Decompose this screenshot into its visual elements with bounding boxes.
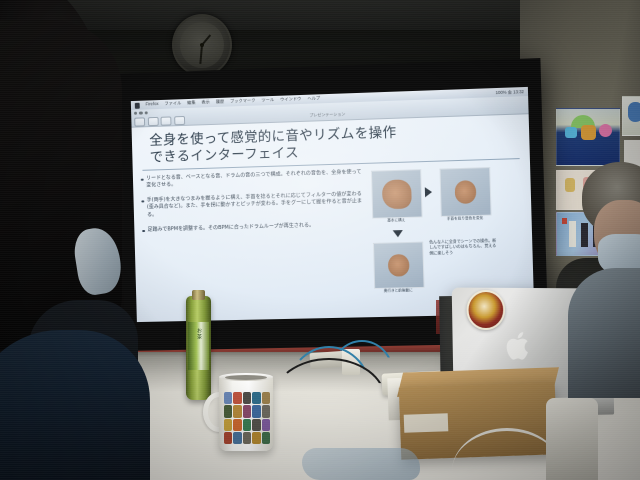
bottle-label-text: お茶 bbox=[196, 328, 203, 340]
mug-icon-shape bbox=[233, 419, 241, 431]
menu-item-tools[interactable]: ツール bbox=[261, 98, 274, 103]
mug-icon-shape bbox=[233, 432, 241, 444]
mug-icon-shape bbox=[243, 405, 251, 417]
bullet-dot-icon bbox=[141, 178, 144, 181]
mug-icon-shape bbox=[252, 432, 260, 444]
slide-columns: リードとなる音、ベースとなる音、ドラムの音の三つで構成。それぞれの音色を、全身を… bbox=[141, 164, 524, 242]
poster-shape-pink bbox=[599, 124, 612, 137]
window-controls[interactable] bbox=[134, 111, 148, 115]
menubar-app-name[interactable]: Firefox bbox=[145, 102, 158, 107]
mug-icon-shape bbox=[262, 392, 270, 404]
mug-interior bbox=[225, 375, 267, 380]
mug-icon-shape bbox=[262, 405, 270, 417]
white-chair bbox=[546, 398, 598, 480]
room-scene: Firefox ファイル 編集 表示 履歴 ブックマーク ツール ウインドウ ヘ… bbox=[0, 0, 640, 480]
reload-icon[interactable] bbox=[174, 116, 185, 125]
minimize-icon[interactable] bbox=[139, 112, 142, 115]
poster-flag bbox=[562, 218, 567, 224]
mug-icon-shape bbox=[262, 419, 270, 431]
person-left-shoulder bbox=[0, 330, 150, 480]
mug-icon-shape bbox=[233, 405, 241, 417]
back-icon[interactable] bbox=[147, 117, 158, 126]
mug-icon-shape bbox=[262, 432, 270, 444]
hand-twisted-shape bbox=[454, 181, 476, 205]
close-icon[interactable] bbox=[134, 112, 137, 115]
slide-figure-column: 基本に構え 手首を捻り音色を変化 bbox=[369, 164, 524, 236]
slide-bullet: 手(両手)を大きなつまみを握るように構え、手首を捻るとそれに応じてフィルターの値… bbox=[141, 191, 366, 220]
slide-bullet-column: リードとなる音、ベースとなる音、ドラムの音の三つで構成。それぞれの音色を、全身を… bbox=[141, 168, 367, 241]
clock-face bbox=[180, 22, 224, 68]
bottle-cap bbox=[192, 290, 205, 300]
mug-icon-shape bbox=[224, 405, 232, 417]
mug-icon-shape bbox=[233, 392, 241, 404]
bullet-dot-icon bbox=[141, 200, 144, 203]
poster-figure-shape bbox=[628, 102, 640, 122]
menu-item-bookmarks[interactable]: ブックマーク bbox=[230, 99, 256, 104]
poster-shape-orange bbox=[581, 125, 596, 140]
toolbar-buttons[interactable] bbox=[134, 116, 184, 127]
arrow-down-icon bbox=[392, 230, 402, 237]
clock-minute-hand bbox=[199, 45, 203, 64]
menu-item-edit[interactable]: 編集 bbox=[187, 101, 196, 105]
mug-icon-shape bbox=[224, 419, 232, 431]
bullet-text: 手(両手)を大きなつまみを握るように構え、手首を捻るとそれに応じてフィルターの値… bbox=[147, 191, 366, 220]
figure-caption-2: 手首を捻り音色を変化 bbox=[441, 215, 490, 221]
mug-icon-shape bbox=[252, 405, 260, 417]
mug-icon-shape bbox=[243, 419, 251, 431]
person-right bbox=[572, 162, 640, 392]
figure-note-text: 色んな人に全身でシーンでの操作。新しんですばしいのはもちろん、覚える側に楽しそう bbox=[429, 237, 497, 256]
menu-item-file[interactable]: ファイル bbox=[164, 102, 181, 107]
slide-title: 全身を使って感覚的に音やリズムを操作 できるインターフェイス bbox=[139, 121, 521, 168]
slide-bullet: リードとなる音、ベースとなる音、ドラムの音の三つで構成。それぞれの音色を、全身を… bbox=[141, 168, 365, 190]
hand-open-shape bbox=[382, 180, 412, 209]
slide-bullet: 足踏みでBPMを調整する。そのBPMに合ったドラムループが再生される。 bbox=[142, 221, 366, 235]
laptop-sticker bbox=[467, 290, 505, 330]
clock-center-pin bbox=[200, 43, 204, 47]
zoom-icon[interactable] bbox=[145, 111, 148, 114]
menu-item-window[interactable]: ウインドウ bbox=[280, 97, 301, 102]
mug-icon-shape bbox=[243, 392, 251, 404]
wall-clock bbox=[172, 14, 232, 76]
figure-hand-twisted bbox=[439, 167, 491, 217]
bullet-text: 足踏みでBPMを調整する。そのBPMに合ったドラムループが再生される。 bbox=[147, 222, 314, 234]
menu-item-history[interactable]: 履歴 bbox=[216, 100, 225, 104]
menu-item-view[interactable]: 表示 bbox=[201, 101, 210, 105]
mug-icon-shape bbox=[252, 419, 260, 431]
menu-item-help[interactable]: ヘルプ bbox=[307, 97, 320, 102]
sidebar-toggle-icon[interactable] bbox=[134, 117, 145, 126]
mug-pattern bbox=[224, 392, 270, 444]
figure-caption-3: 奥行きと前後動に bbox=[374, 287, 422, 293]
mug-icon-shape bbox=[224, 432, 232, 444]
figure-hand-fist bbox=[373, 241, 425, 288]
apple-menu-icon[interactable] bbox=[135, 102, 140, 108]
figure-hand-open bbox=[371, 169, 423, 219]
mug-icon-shape bbox=[243, 432, 251, 444]
menubar-status[interactable]: 100% 金 13:32 bbox=[495, 89, 523, 96]
person-right-body bbox=[568, 268, 640, 398]
window-title: プレゼンテーション bbox=[309, 111, 345, 118]
mug-icon-shape bbox=[224, 392, 232, 404]
forward-icon[interactable] bbox=[160, 116, 171, 125]
poster-boat-drawing bbox=[556, 108, 620, 166]
hand-fist-shape bbox=[388, 254, 410, 277]
bullet-text: リードとなる音、ベースとなる音、ドラムの音の三つで構成。それぞれの音色を、全身を… bbox=[146, 168, 365, 190]
arrow-right-icon bbox=[425, 187, 432, 197]
box-shipping-label bbox=[404, 413, 449, 433]
poster-shape-blue bbox=[565, 127, 577, 138]
figure-caption-1: 基本に構え bbox=[372, 217, 420, 223]
poster-figure-small bbox=[622, 96, 640, 136]
bullet-dot-icon bbox=[142, 230, 145, 233]
apple-logo-icon bbox=[505, 330, 532, 362]
plastic-bag bbox=[302, 448, 420, 480]
mug-icon-shape bbox=[252, 392, 260, 404]
